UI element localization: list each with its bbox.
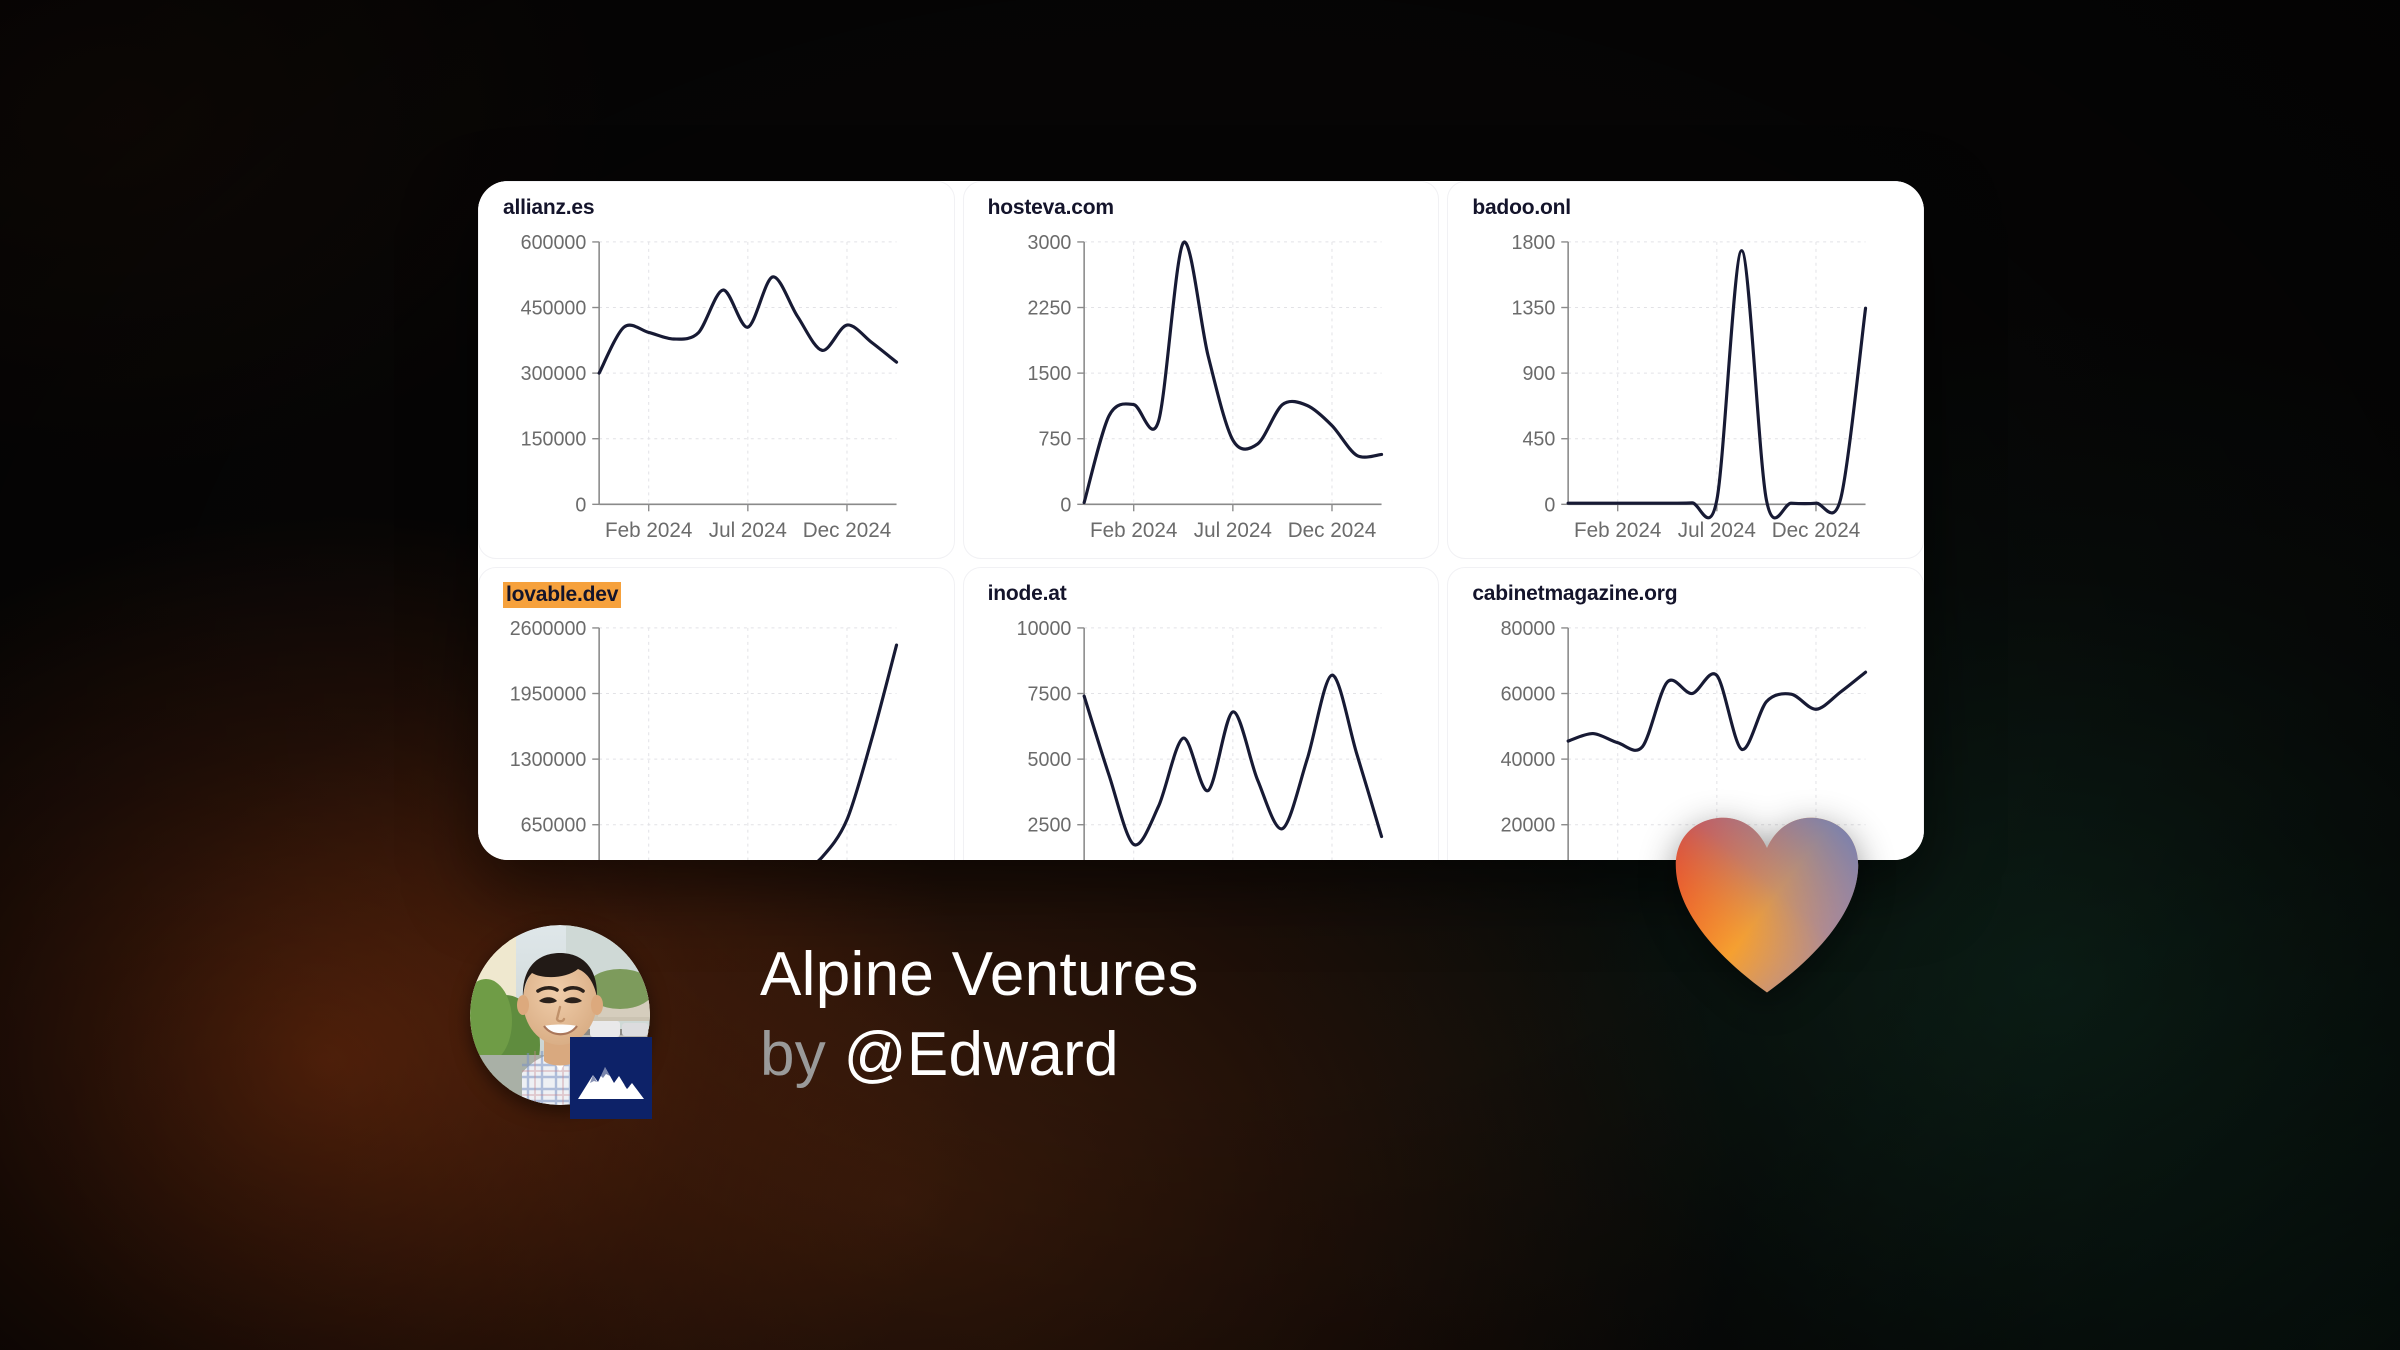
svg-text:0: 0 — [575, 494, 586, 516]
svg-text:20000: 20000 — [1501, 815, 1556, 837]
svg-text:1950000: 1950000 — [510, 683, 587, 705]
chart-card[interactable]: hosteva.com0750150022503000Feb 2024Jul 2… — [963, 181, 1440, 559]
footer-by-label: by — [760, 1020, 826, 1089]
avatar-with-badge — [470, 925, 650, 1105]
svg-text:450000: 450000 — [521, 297, 587, 319]
svg-text:40000: 40000 — [1501, 749, 1556, 771]
mountain-logo-icon — [570, 1037, 652, 1119]
svg-text:450: 450 — [1523, 429, 1556, 451]
svg-text:2600000: 2600000 — [510, 618, 587, 640]
footer-subtitle: by @Edward — [760, 1024, 1199, 1086]
svg-text:Dec 2024: Dec 2024 — [1287, 519, 1375, 542]
svg-text:1350: 1350 — [1512, 297, 1556, 319]
svg-text:600000: 600000 — [521, 232, 587, 254]
chart-card[interactable]: badoo.onl045090013501800Feb 2024Jul 2024… — [1447, 181, 1924, 559]
svg-text:1500: 1500 — [1027, 363, 1071, 385]
chart-card[interactable]: lovable.dev650000130000019500002600000Fe… — [478, 567, 955, 860]
svg-text:Feb 2024: Feb 2024 — [605, 519, 692, 542]
chart-card-title: cabinetmagazine.org — [1472, 582, 1677, 606]
svg-text:2250: 2250 — [1027, 297, 1071, 319]
svg-text:0: 0 — [1060, 494, 1071, 516]
svg-text:1300000: 1300000 — [510, 749, 587, 771]
svg-text:300000: 300000 — [521, 363, 587, 385]
svg-text:60000: 60000 — [1501, 683, 1556, 705]
chart-plot: 0150000300000450000600000Feb 2024Jul 202… — [479, 228, 954, 558]
svg-text:Dec 2024: Dec 2024 — [803, 519, 891, 542]
svg-text:650000: 650000 — [521, 815, 587, 837]
dashboard-panel: allianz.es0150000300000450000600000Feb 2… — [478, 181, 1924, 860]
chart-card-title: lovable.dev — [503, 582, 621, 608]
svg-text:Feb 2024: Feb 2024 — [1090, 519, 1177, 542]
chart-plot: 0750150022503000Feb 2024Jul 2024Dec 2024 — [964, 228, 1439, 558]
chart-card-title: hosteva.com — [988, 196, 1114, 220]
svg-text:1800: 1800 — [1512, 232, 1556, 254]
chart-card-title: badoo.onl — [1472, 196, 1571, 220]
chart-grid: allianz.es0150000300000450000600000Feb 2… — [478, 181, 1924, 860]
chart-card[interactable]: allianz.es0150000300000450000600000Feb 2… — [478, 181, 955, 559]
svg-text:Dec 2024: Dec 2024 — [1772, 519, 1860, 542]
chart-card-title: allianz.es — [503, 196, 594, 220]
footer-title: Alpine Ventures — [760, 944, 1199, 1006]
heart-icon — [1672, 812, 1862, 1002]
svg-text:0: 0 — [1545, 494, 1556, 516]
chart-plot: 045090013501800Feb 2024Jul 2024Dec 2024 — [1448, 228, 1923, 558]
svg-text:80000: 80000 — [1501, 618, 1556, 640]
chart-card-title: inode.at — [988, 582, 1067, 606]
chart-card[interactable]: inode.at25005000750010000Feb 2024Jul 202… — [963, 567, 1440, 860]
svg-text:900: 900 — [1523, 363, 1556, 385]
svg-text:750: 750 — [1038, 429, 1071, 451]
svg-text:Jul 2024: Jul 2024 — [1678, 519, 1756, 542]
svg-text:Feb 2024: Feb 2024 — [1574, 519, 1661, 542]
svg-text:2500: 2500 — [1027, 815, 1071, 837]
svg-text:5000: 5000 — [1027, 749, 1071, 771]
svg-text:7500: 7500 — [1027, 683, 1071, 705]
chart-plot: 650000130000019500002600000Feb 2024Jul 2… — [479, 614, 954, 860]
svg-text:150000: 150000 — [521, 429, 587, 451]
svg-text:Jul 2024: Jul 2024 — [1193, 519, 1271, 542]
footer-credit: Alpine Ventures by @Edward — [470, 925, 1199, 1105]
footer-text: Alpine Ventures by @Edward — [760, 944, 1199, 1086]
svg-text:10000: 10000 — [1016, 618, 1071, 640]
chart-plot: 25005000750010000Feb 2024Jul 2024Dec 202… — [964, 614, 1439, 860]
footer-handle: @Edward — [844, 1020, 1119, 1089]
svg-text:Jul 2024: Jul 2024 — [709, 519, 787, 542]
svg-text:3000: 3000 — [1027, 232, 1071, 254]
